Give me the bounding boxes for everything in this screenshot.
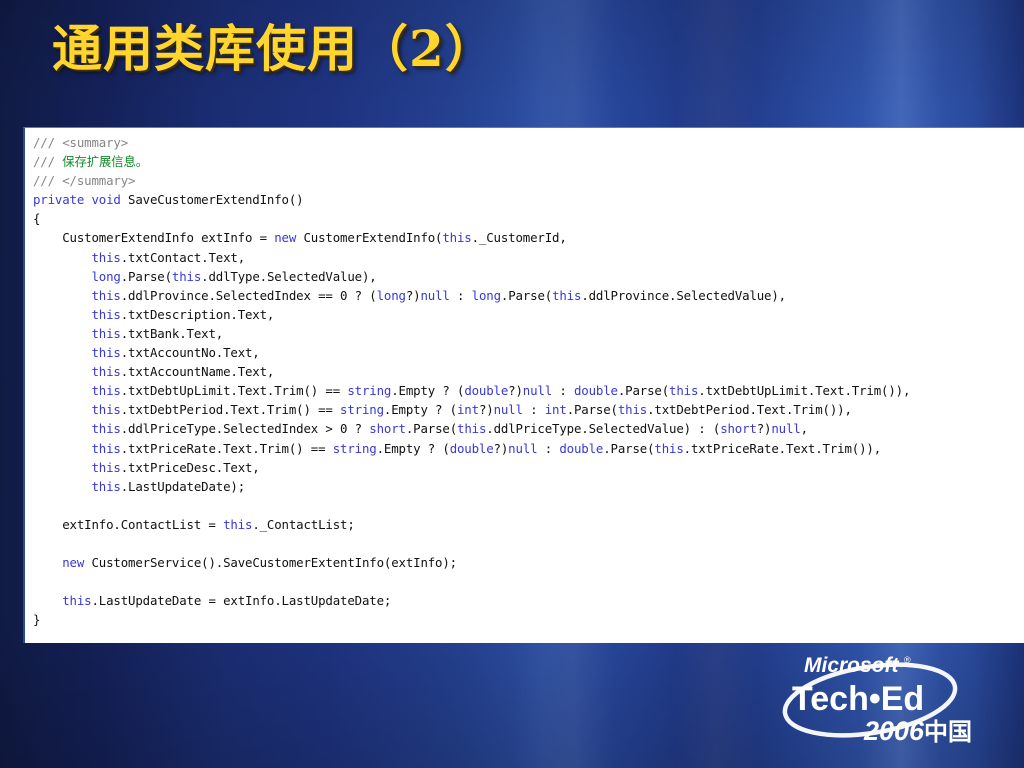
- code-token: this: [91, 479, 120, 494]
- code-token: this: [172, 269, 201, 284]
- code-token: this: [618, 402, 647, 417]
- code-token: :: [552, 383, 574, 398]
- code-token: .ddlProvince.SelectedValue),: [581, 288, 786, 303]
- code-token: .Parse(: [501, 288, 552, 303]
- code-line: this.txtBank.Text,: [33, 324, 910, 343]
- code-token: .txtDebtUpLimit.Text.Trim() ==: [121, 383, 348, 398]
- code-token: short: [369, 421, 406, 436]
- code-token: ///: [33, 154, 62, 169]
- code-token: .ddlPriceType.SelectedIndex > 0 ?: [121, 421, 370, 436]
- code-token: this: [654, 441, 683, 456]
- code-token: .Parse(: [406, 421, 457, 436]
- code-token: SaveCustomerExtendInfo(): [121, 192, 304, 207]
- code-token: new: [274, 230, 296, 245]
- code-token: ?): [406, 288, 421, 303]
- code-token: string: [347, 383, 391, 398]
- presentation-slide: 通用类库使用（2） /// <summary>/// 保存扩展信息。/// </…: [0, 0, 1024, 768]
- code-token: :: [523, 402, 545, 417]
- code-token: [33, 441, 91, 456]
- code-token: ?): [508, 383, 523, 398]
- code-token: this: [91, 345, 120, 360]
- code-token: [33, 421, 91, 436]
- code-token: [33, 402, 91, 417]
- code-token: this: [91, 326, 120, 341]
- microsoft-teched-logo: Microsoft ® Tech•Ed 2006 中国: [752, 648, 1002, 746]
- code-line: long.Parse(this.ddlType.SelectedValue),: [33, 267, 910, 286]
- code-token: CustomerExtendInfo extInfo =: [33, 230, 274, 245]
- code-token: [33, 479, 91, 494]
- code-token: .txtPriceRate.Text.Trim() ==: [121, 441, 333, 456]
- code-token: .Parse(: [121, 269, 172, 284]
- code-line: }: [33, 610, 910, 629]
- code-listing: /// <summary>/// 保存扩展信息。/// </summary>pr…: [33, 133, 910, 629]
- code-token: this: [91, 364, 120, 379]
- code-token: double: [450, 441, 494, 456]
- code-token: [33, 555, 62, 570]
- code-token: null: [523, 383, 552, 398]
- code-token: null: [508, 441, 537, 456]
- code-token: /// <summary>: [33, 135, 128, 150]
- code-line: this.LastUpdateDate = extInfo.LastUpdate…: [33, 591, 910, 610]
- code-token: CustomerExtendInfo(: [296, 230, 442, 245]
- code-line: [33, 496, 910, 515]
- code-token: [33, 593, 62, 608]
- code-token: long: [472, 288, 501, 303]
- code-line: private void SaveCustomerExtendInfo(): [33, 190, 910, 209]
- code-token: .txtPriceDesc.Text,: [121, 460, 260, 475]
- code-token: extInfo.ContactList =: [33, 517, 223, 532]
- code-line: this.txtAccountName.Text,: [33, 362, 910, 381]
- code-token: this: [91, 307, 120, 322]
- code-token: ?): [479, 402, 494, 417]
- code-line: this.txtContact.Text,: [33, 248, 910, 267]
- code-token: this: [91, 288, 120, 303]
- code-token: double: [559, 441, 603, 456]
- code-token: :: [450, 288, 472, 303]
- code-line: this.ddlProvince.SelectedIndex == 0 ? (l…: [33, 286, 910, 305]
- code-token: long: [377, 288, 406, 303]
- code-token: .ddlPriceType.SelectedValue) : (: [486, 421, 720, 436]
- code-token: this: [552, 288, 581, 303]
- code-line: this.txtAccountNo.Text,: [33, 343, 910, 362]
- code-token: double: [464, 383, 508, 398]
- code-token: 保存扩展信息。: [62, 154, 148, 169]
- code-token: .txtAccountName.Text,: [121, 364, 275, 379]
- code-token: this: [62, 593, 91, 608]
- code-token: ._ContactList;: [252, 517, 354, 532]
- code-token: .Parse(: [618, 383, 669, 398]
- code-token: new: [62, 555, 84, 570]
- code-token: .LastUpdateDate = extInfo.LastUpdateDate…: [92, 593, 392, 608]
- code-token: null: [420, 288, 449, 303]
- code-token: .Parse(: [567, 402, 618, 417]
- code-line: this.txtPriceRate.Text.Trim() == string.…: [33, 439, 910, 458]
- code-line: this.ddlPriceType.SelectedIndex > 0 ? sh…: [33, 419, 910, 438]
- code-token: short: [720, 421, 757, 436]
- code-panel: /// <summary>/// 保存扩展信息。/// </summary>pr…: [23, 127, 1024, 643]
- code-token: [33, 345, 91, 360]
- code-token: ,: [801, 421, 808, 436]
- logo-year-text: 2006: [863, 716, 925, 746]
- code-line: extInfo.ContactList = this._ContactList;: [33, 515, 910, 534]
- code-line: this.txtPriceDesc.Text,: [33, 458, 910, 477]
- code-line: this.txtDebtPeriod.Text.Trim() == string…: [33, 400, 910, 419]
- code-token: .Parse(: [603, 441, 654, 456]
- code-token: int: [545, 402, 567, 417]
- code-token: /// </summary>: [33, 173, 135, 188]
- code-line: /// </summary>: [33, 171, 910, 190]
- code-token: .Empty ? (: [391, 383, 464, 398]
- code-token: this: [457, 421, 486, 436]
- code-token: this: [91, 441, 120, 456]
- code-token: :: [537, 441, 559, 456]
- code-token: private void: [33, 192, 121, 207]
- code-token: .txtDebtPeriod.Text.Trim()),: [647, 402, 852, 417]
- code-token: string: [340, 402, 384, 417]
- code-token: string: [333, 441, 377, 456]
- code-token: ?): [494, 441, 509, 456]
- code-token: null: [494, 402, 523, 417]
- code-line: /// <summary>: [33, 133, 910, 152]
- code-token: .txtPriceRate.Text.Trim()),: [684, 441, 881, 456]
- code-token: [33, 326, 91, 341]
- code-token: double: [574, 383, 618, 398]
- code-line: [33, 572, 910, 591]
- code-token: .Empty ? (: [384, 402, 457, 417]
- code-token: long: [91, 269, 120, 284]
- code-token: .Empty ? (: [377, 441, 450, 456]
- code-token: [33, 307, 91, 322]
- code-line: CustomerExtendInfo extInfo = new Custome…: [33, 228, 910, 247]
- code-line: this.LastUpdateDate);: [33, 477, 910, 496]
- code-token: this: [91, 383, 120, 398]
- page-title: 通用类库使用（2）: [52, 20, 496, 78]
- code-token: ._CustomerId,: [472, 230, 567, 245]
- code-line: /// 保存扩展信息。: [33, 152, 910, 171]
- code-token: .txtDebtPeriod.Text.Trim() ==: [121, 402, 340, 417]
- code-token: [33, 288, 91, 303]
- code-token: this: [91, 421, 120, 436]
- code-token: .txtBank.Text,: [121, 326, 223, 341]
- code-token: .txtAccountNo.Text,: [121, 345, 260, 360]
- slide-title-bar: 通用类库使用（2）: [0, 0, 1024, 120]
- code-line: [33, 534, 910, 553]
- code-token: ?): [757, 421, 772, 436]
- code-token: }: [33, 612, 40, 627]
- code-token: [33, 364, 91, 379]
- logo-region-text: 中国: [924, 718, 972, 746]
- code-token: .txtDebtUpLimit.Text.Trim()),: [698, 383, 910, 398]
- code-line: new CustomerService().SaveCustomerExtent…: [33, 553, 910, 572]
- code-token: this: [669, 383, 698, 398]
- logo-microsoft-text: Microsoft: [804, 654, 900, 677]
- code-token: this: [91, 402, 120, 417]
- code-token: null: [771, 421, 800, 436]
- code-token: CustomerService().SaveCustomerExtentInfo…: [84, 555, 457, 570]
- code-token: this: [223, 517, 252, 532]
- code-token: .txtContact.Text,: [121, 250, 245, 265]
- code-token: this: [91, 250, 120, 265]
- code-token: {: [33, 211, 40, 226]
- code-line: this.txtDescription.Text,: [33, 305, 910, 324]
- code-token: .ddlProvince.SelectedIndex == 0 ? (: [121, 288, 377, 303]
- code-token: [33, 383, 91, 398]
- code-token: .LastUpdateDate);: [121, 479, 245, 494]
- code-line: this.txtDebtUpLimit.Text.Trim() == strin…: [33, 381, 910, 400]
- logo-teched-text: Tech•Ed: [792, 680, 924, 718]
- code-token: .ddlType.SelectedValue),: [201, 269, 376, 284]
- code-token: [33, 460, 91, 475]
- code-token: [33, 250, 91, 265]
- code-line: {: [33, 209, 910, 228]
- code-token: int: [457, 402, 479, 417]
- code-token: [33, 269, 91, 284]
- code-token: .txtDescription.Text,: [121, 307, 275, 322]
- code-token: this: [91, 460, 120, 475]
- logo-registered-mark: ®: [904, 655, 911, 665]
- code-token: this: [442, 230, 471, 245]
